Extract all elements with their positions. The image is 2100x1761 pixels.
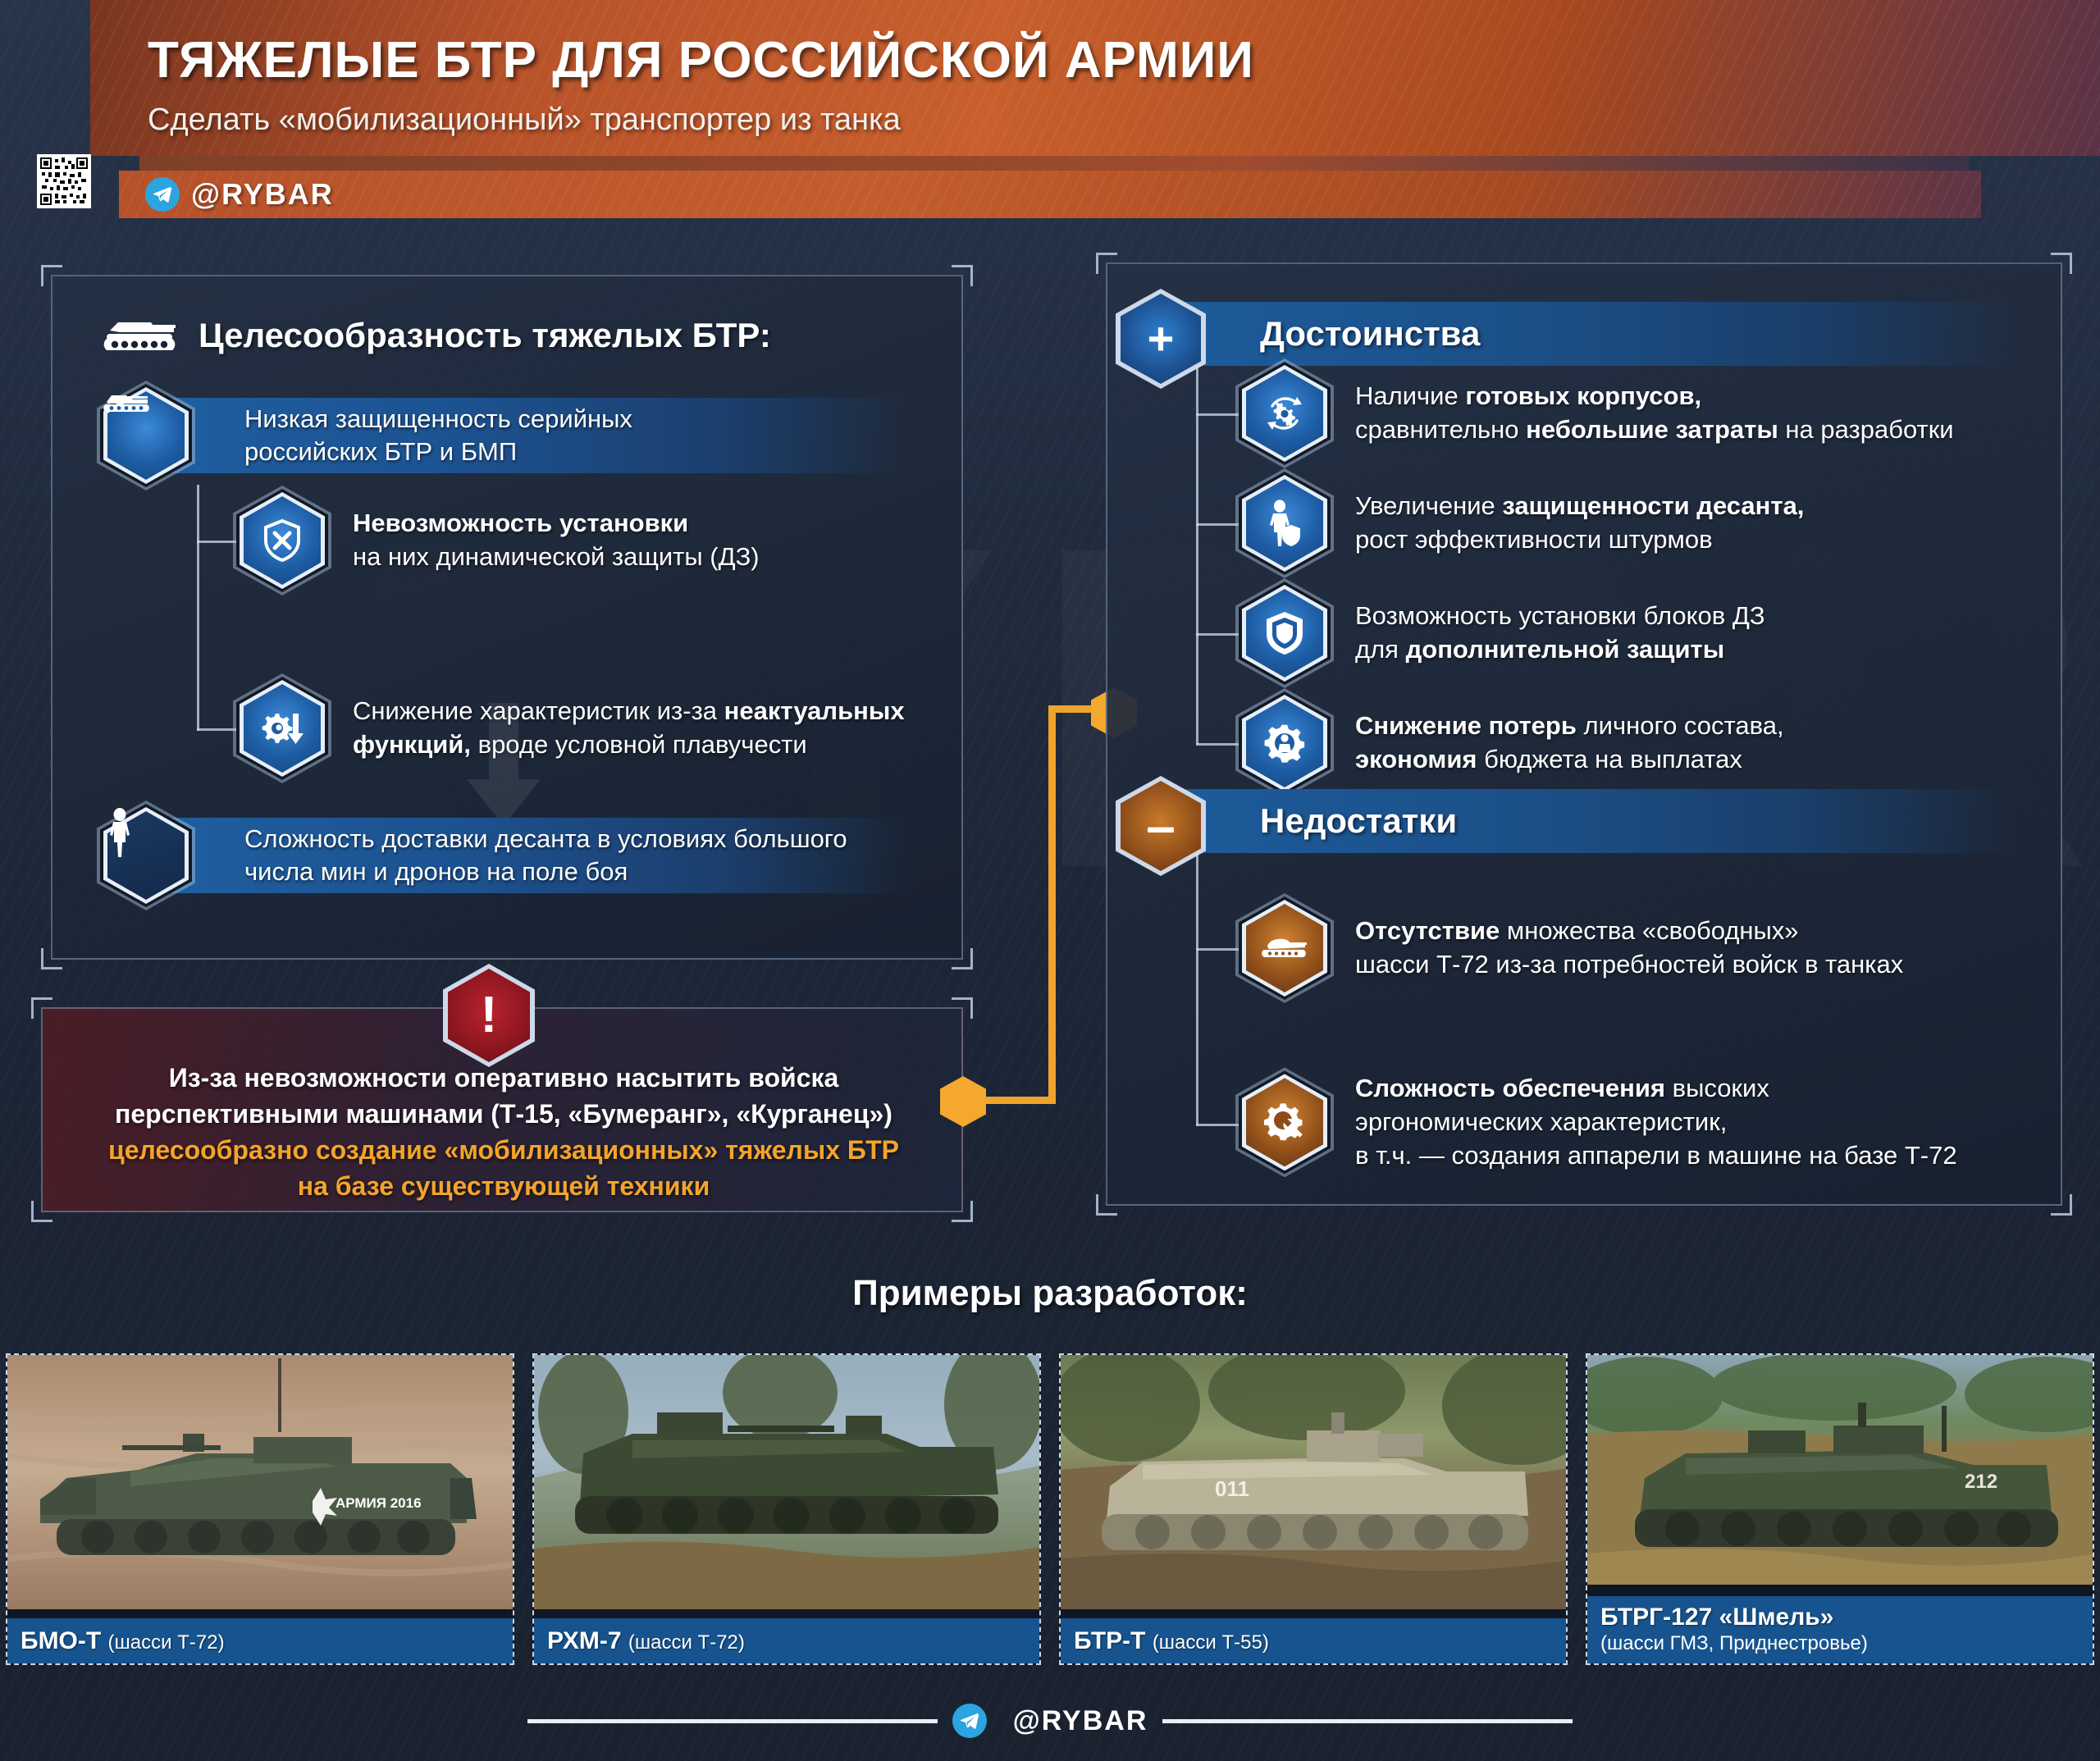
left-item-3: Снижение характеристик из-за неактуальны… (240, 680, 905, 777)
cons-section-header: – Недостатки (1153, 789, 2015, 853)
bmo-t-photo: АРМИЯ 2016 (7, 1355, 513, 1609)
pros-item-1: Наличие готовых корпусов, сравнительно н… (1242, 365, 1954, 462)
cons-item-1-text: Отсутствие множества «свободных» шасси Т… (1355, 915, 1903, 982)
btr-t-photo: 011 (1061, 1355, 1566, 1609)
warning-text: Из-за невозможности оперативно насытить … (43, 1060, 965, 1205)
soldier-shield-icon (1242, 475, 1327, 572)
corner-decor (41, 948, 62, 969)
corner-decor (41, 265, 62, 286)
corner-decor (2051, 1194, 2072, 1216)
recycle-gear-icon (1242, 365, 1327, 462)
cons-tree-branch (1196, 1124, 1242, 1126)
pros-item-4-text: Снижение потерь личного состава, экономи… (1355, 709, 1784, 777)
corner-decor (952, 265, 973, 286)
left-panel-title-text: Целесообразность тяжелых БТР: (199, 316, 771, 355)
tank-turret-icon (1242, 900, 1327, 997)
connector-line-h1 (984, 1097, 1055, 1104)
footer-rule-left (527, 1719, 938, 1723)
left-item-1-bar: Низкая защищенность серийных российских … (153, 398, 907, 473)
pros-item-3-text: Возможность установки блоков ДЗ для допо… (1355, 600, 1765, 667)
pros-tree-branch (1196, 413, 1242, 416)
plus-badge-icon: + (1116, 289, 1206, 389)
pros-tree-branch (1196, 523, 1242, 526)
cons-item-2: Сложность обеспечения высоких эргономиче… (1242, 1072, 1957, 1173)
example-card[interactable]: РХМ-7 (шасси Т-72) (532, 1353, 1041, 1665)
cons-item-2-text: Сложность обеспечения высоких эргономиче… (1355, 1072, 1957, 1173)
connector-line-v (1048, 705, 1056, 1104)
left-item-4-text: Сложность доставки десанта в условиях бо… (244, 823, 847, 889)
rhm-7-photo (534, 1355, 1039, 1609)
exclamation-hex-icon: ! (443, 964, 535, 1067)
left-item-2: Невозможность установки на них динамичес… (240, 492, 760, 589)
corner-decor (2051, 253, 2072, 274)
telegram-icon (952, 1704, 987, 1738)
example-caption: РХМ-7 (шасси Т-72) (534, 1618, 1039, 1663)
minus-badge-icon: – (1116, 776, 1206, 876)
examples-title: Примеры разработок: (0, 1273, 2100, 1314)
gear-wrench-icon (1242, 1074, 1327, 1170)
header-banner: ТЯЖЕЛЫЕ БТР ДЛЯ РОССИЙСКОЙ АРМИИ Сделать… (90, 0, 2100, 156)
pros-item-2-text: Увеличение защищенности десанта, рост эф… (1355, 490, 1804, 557)
corner-decor (952, 948, 973, 969)
pros-tree-branch (1196, 743, 1242, 746)
brand-bar: @RYBAR (119, 171, 1981, 218)
page-subtitle: Сделать «мобилизационный» транспортер из… (148, 103, 2100, 138)
cons-tree-vertical (1196, 853, 1198, 1125)
left-panel: Целесообразность тяжелых БТР: Низкая защ… (51, 275, 963, 960)
left-item-2-text: Невозможность установки на них динамичес… (353, 507, 760, 574)
left-item-1-text: Низкая защищенность серийных российских … (244, 403, 632, 469)
corner-decor (1096, 253, 1117, 274)
tank-side-icon (103, 317, 179, 354)
pros-item-3: Возможность установки блоков ДЗ для допо… (1242, 585, 1765, 682)
pros-tree-branch (1196, 633, 1242, 636)
btrg-127-photo: 212 (1587, 1355, 2093, 1585)
gear-person-icon (1242, 695, 1327, 792)
right-panel: + Достоинства (1106, 262, 2062, 1206)
tree-line-vertical (197, 485, 199, 731)
left-item-3-text: Снижение характеристик из-за неактуальны… (353, 695, 905, 762)
corner-decor (952, 997, 973, 1019)
example-card[interactable]: АРМИЯ 2016 БМО-Т (шасси Т-72) (6, 1353, 514, 1665)
pros-item-1-text: Наличие готовых корпусов, сравнительно н… (1355, 380, 1954, 447)
pros-tree-vertical (1196, 366, 1198, 745)
telegram-icon (145, 177, 180, 212)
left-panel-heading: Целесообразность тяжелых БТР: (103, 316, 961, 355)
example-card[interactable]: 011 БТР-Т (шасси Т-55) (1059, 1353, 1568, 1665)
page-title: ТЯЖЕЛЫЕ БТР ДЛЯ РОССИЙСКОЙ АРМИИ (148, 31, 2100, 89)
footer-bar: @RYBAR (0, 1696, 2100, 1745)
example-caption: БТР-Т (шасси Т-55) (1061, 1618, 1566, 1663)
pros-item-2: Увеличение защищенности десанта, рост эф… (1242, 475, 1804, 572)
brand-bar-shadow (139, 156, 1969, 172)
soldier-icon (103, 807, 189, 904)
pros-item-4: Снижение потерь личного состава, экономи… (1242, 695, 1784, 792)
pros-title: Достоинства (1260, 314, 1480, 354)
svg-text:АРМИЯ 2016: АРМИЯ 2016 (336, 1495, 422, 1511)
example-caption: БТРГ-127 «Шмель» (шасси ГМЗ, Приднестров… (1587, 1596, 2093, 1663)
footer-brand[interactable]: @RYBAR (1013, 1705, 1148, 1737)
qr-code-icon[interactable] (37, 154, 91, 208)
svg-text:212: 212 (1965, 1471, 1997, 1493)
cons-tree-branch (1196, 948, 1242, 951)
example-card[interactable]: 212 БТРГ-127 «Шмель» (шасси ГМЗ, Приднес… (1586, 1353, 2094, 1665)
cons-item-1: Отсутствие множества «свободных» шасси Т… (1242, 900, 1903, 997)
infographic-page: RYBAR ТЯЖЕЛЫЕ БТР ДЛЯ РОССИЙСКОЙ АРМИИ С… (0, 0, 2100, 1761)
examples-strip: АРМИЯ 2016 БМО-Т (шасси Т-72) (0, 1353, 2100, 1665)
footer-rule-right (1162, 1719, 1573, 1723)
gear-down-arrow-icon (240, 680, 325, 777)
shield-icon (1242, 585, 1327, 682)
corner-decor (31, 997, 52, 1019)
cons-title: Недостатки (1260, 801, 1457, 841)
example-caption: БМО-Т (шасси Т-72) (7, 1618, 513, 1663)
brand-handle[interactable]: @RYBAR (191, 177, 334, 212)
shield-cross-icon (240, 492, 325, 589)
pros-section-header: + Достоинства (1153, 302, 2015, 366)
corner-decor (1096, 1194, 1117, 1216)
apc-icon (103, 387, 189, 484)
left-item-4-bar: Сложность доставки десанта в условиях бо… (153, 818, 907, 893)
svg-text:011: 011 (1215, 1476, 1249, 1501)
